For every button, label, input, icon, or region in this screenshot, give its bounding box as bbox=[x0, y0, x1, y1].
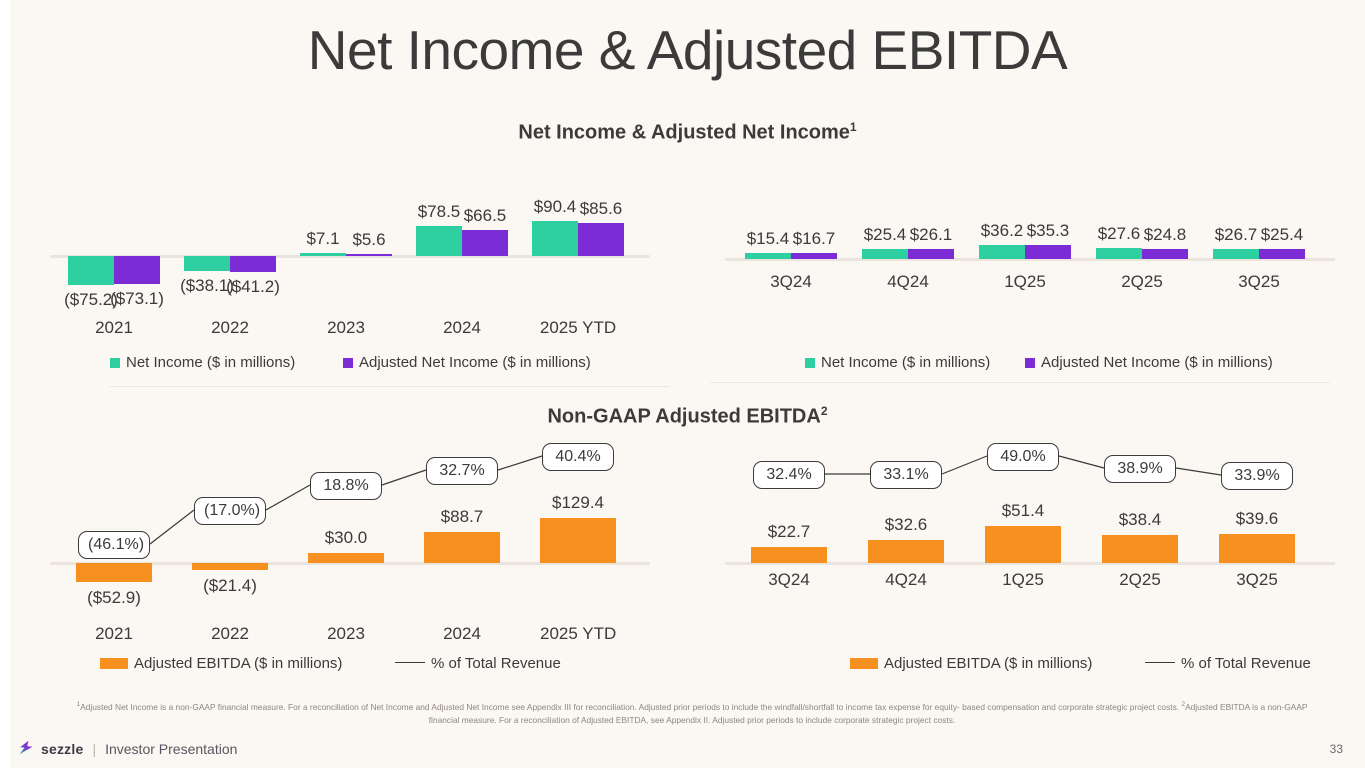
legend-item-adjusted-ebitda: Adjusted EBITDA ($ in millions) bbox=[100, 655, 342, 672]
percent-callout: 40.4% bbox=[542, 443, 614, 471]
bar-net-income bbox=[862, 249, 908, 259]
bar-adjusted-ebitda bbox=[1102, 535, 1178, 563]
bottom-bar: sezzle | Investor Presentation 33 bbox=[10, 734, 1365, 768]
category-label: 3Q25 bbox=[1213, 272, 1305, 292]
bar-net-income bbox=[416, 226, 462, 256]
bar-adjusted-net-income bbox=[791, 253, 837, 259]
legend-item-adjusted-net-income: Adjusted Net Income ($ in millions) bbox=[1025, 354, 1273, 371]
legend-label-net-income: Net Income ($ in millions) bbox=[126, 354, 295, 371]
bar-adjusted-ebitda bbox=[308, 553, 384, 564]
legend-swatch-percent-revenue bbox=[1145, 662, 1175, 663]
value-label-adjusted-net-income: ($73.1) bbox=[108, 289, 166, 309]
legend-label-adjusted-net-income: Adjusted Net Income ($ in millions) bbox=[359, 354, 591, 371]
value-label-adjusted-net-income: $26.1 bbox=[902, 225, 960, 245]
bar-net-income bbox=[745, 253, 791, 259]
brand-tagline: Investor Presentation bbox=[105, 741, 237, 757]
category-label: 2023 bbox=[308, 624, 384, 644]
legend-swatch-adjusted-net-income bbox=[1025, 358, 1035, 368]
legend-label-percent-revenue: % of Total Revenue bbox=[431, 655, 561, 672]
legend-label-adjusted-ebitda: Adjusted EBITDA ($ in millions) bbox=[884, 655, 1092, 672]
value-label-adjusted-net-income: $66.5 bbox=[456, 206, 514, 226]
value-label-adjusted-ebitda: $32.6 bbox=[854, 515, 958, 535]
value-label-adjusted-net-income: $24.8 bbox=[1136, 225, 1194, 245]
percent-callout: 18.8% bbox=[310, 472, 382, 500]
category-label: 2024 bbox=[424, 624, 500, 644]
legend-swatch-adjusted-ebitda bbox=[100, 658, 128, 669]
percent-callout: 32.4% bbox=[753, 461, 825, 489]
percent-callout: 33.1% bbox=[870, 461, 942, 489]
category-label: 2023 bbox=[300, 318, 392, 338]
bar-adjusted-ebitda bbox=[424, 532, 500, 563]
category-label: 4Q24 bbox=[862, 272, 954, 292]
section-heading-ebitda-text: Non-GAAP Adjusted EBITDA bbox=[547, 406, 820, 428]
bar-adjusted-net-income bbox=[1142, 249, 1188, 259]
bar-net-income bbox=[979, 245, 1025, 259]
value-label-adjusted-ebitda: $129.4 bbox=[526, 493, 630, 513]
page-number: 33 bbox=[1330, 742, 1343, 756]
bar-adjusted-net-income bbox=[230, 256, 276, 272]
category-label: 1Q25 bbox=[985, 570, 1061, 590]
bar-adjusted-net-income bbox=[462, 230, 508, 256]
legend-label-adjusted-ebitda: Adjusted EBITDA ($ in millions) bbox=[134, 655, 342, 672]
value-label-adjusted-net-income: ($41.2) bbox=[224, 277, 282, 297]
section-divider-right bbox=[710, 382, 1330, 383]
value-label-adjusted-ebitda: ($21.4) bbox=[178, 576, 282, 596]
chart-ebitda-annual: ($52.9)2021($21.4)2022$30.02023$88.72024… bbox=[50, 440, 650, 680]
percent-callout: (17.0%) bbox=[194, 497, 266, 525]
category-label: 2021 bbox=[68, 318, 160, 338]
percent-callout: 38.9% bbox=[1104, 455, 1176, 483]
value-label-adjusted-ebitda: $38.4 bbox=[1088, 510, 1192, 530]
value-label-adjusted-ebitda: $22.7 bbox=[737, 522, 841, 542]
legend-item-percent-revenue: % of Total Revenue bbox=[395, 655, 561, 672]
sezzle-swoosh-icon bbox=[18, 740, 35, 758]
bar-adjusted-ebitda bbox=[1219, 534, 1295, 563]
bar-adjusted-net-income bbox=[578, 223, 624, 256]
legend-swatch-adjusted-ebitda bbox=[850, 658, 878, 669]
value-label-adjusted-net-income: $85.6 bbox=[572, 199, 630, 219]
legend-item-percent-revenue: % of Total Revenue bbox=[1145, 655, 1311, 672]
footnote-line-1: Adjusted Net Income is a non-GAAP financ… bbox=[80, 702, 960, 712]
category-label: 1Q25 bbox=[979, 272, 1071, 292]
percent-callout: 33.9% bbox=[1221, 462, 1293, 490]
bar-adjusted-net-income bbox=[1025, 245, 1071, 259]
legend-item-net-income: Net Income ($ in millions) bbox=[805, 354, 990, 371]
category-label: 3Q25 bbox=[1219, 570, 1295, 590]
category-label: 2024 bbox=[416, 318, 508, 338]
bar-adjusted-ebitda bbox=[985, 526, 1061, 563]
bar-adjusted-net-income bbox=[346, 254, 392, 257]
page-title: Net Income & Adjusted EBITDA bbox=[10, 18, 1365, 82]
brand-name: sezzle bbox=[41, 741, 83, 757]
legend-swatch-percent-revenue bbox=[395, 662, 425, 663]
value-label-adjusted-net-income: $35.3 bbox=[1019, 221, 1077, 241]
chart-net-income-annual: ($75.2)($73.1)2021($38.1)($41.2)2022$7.1… bbox=[50, 182, 650, 382]
value-label-adjusted-net-income: $5.6 bbox=[340, 230, 398, 250]
category-label: 3Q24 bbox=[751, 570, 827, 590]
category-label: 2025 YTD bbox=[540, 624, 616, 644]
value-label-adjusted-ebitda: $39.6 bbox=[1205, 509, 1309, 529]
category-label: 3Q24 bbox=[745, 272, 837, 292]
bar-adjusted-net-income bbox=[114, 256, 160, 284]
category-label: 2022 bbox=[192, 624, 268, 644]
legend-swatch-net-income bbox=[110, 358, 120, 368]
category-label: 2022 bbox=[184, 318, 276, 338]
value-label-adjusted-ebitda: $30.0 bbox=[294, 528, 398, 548]
footnote-line-2: based compensation and corporate strateg… bbox=[962, 702, 1179, 712]
percent-callout: 49.0% bbox=[987, 443, 1059, 471]
category-label: 2021 bbox=[76, 624, 152, 644]
section-divider-left bbox=[110, 386, 670, 387]
footnote: 1Adjusted Net Income is a non-GAAP finan… bbox=[76, 700, 1308, 727]
section-heading-net-income-footnote-marker: 1 bbox=[850, 120, 857, 134]
legend-label-net-income: Net Income ($ in millions) bbox=[821, 354, 990, 371]
legend-swatch-net-income bbox=[805, 358, 815, 368]
category-label: 2025 YTD bbox=[532, 318, 624, 338]
bar-net-income bbox=[300, 253, 346, 256]
bar-net-income bbox=[1213, 249, 1259, 259]
bar-net-income bbox=[532, 221, 578, 256]
section-heading-ebitda-footnote-marker: 2 bbox=[821, 404, 828, 418]
percent-callout: (46.1%) bbox=[78, 531, 150, 559]
legend-item-adjusted-net-income: Adjusted Net Income ($ in millions) bbox=[343, 354, 591, 371]
brand: sezzle | Investor Presentation bbox=[18, 740, 237, 758]
brand-separator: | bbox=[92, 741, 96, 757]
bar-net-income bbox=[1096, 248, 1142, 259]
percent-callout: 32.7% bbox=[426, 457, 498, 485]
bar-adjusted-ebitda bbox=[540, 518, 616, 563]
section-heading-net-income: Net Income & Adjusted Net Income1 bbox=[10, 120, 1365, 145]
category-label: 2Q25 bbox=[1096, 272, 1188, 292]
section-heading-ebitda: Non-GAAP Adjusted EBITDA2 bbox=[10, 404, 1365, 429]
legend-label-percent-revenue: % of Total Revenue bbox=[1181, 655, 1311, 672]
legend-label-adjusted-net-income: Adjusted Net Income ($ in millions) bbox=[1041, 354, 1273, 371]
chart-ebitda-quarterly: $22.73Q24$32.64Q24$51.41Q25$38.42Q25$39.… bbox=[725, 440, 1335, 680]
bar-adjusted-net-income bbox=[1259, 249, 1305, 259]
legend-item-net-income: Net Income ($ in millions) bbox=[110, 354, 295, 371]
section-heading-net-income-text: Net Income & Adjusted Net Income bbox=[518, 122, 850, 144]
bar-adjusted-ebitda bbox=[192, 563, 268, 570]
bar-adjusted-ebitda bbox=[76, 563, 152, 582]
value-label-adjusted-ebitda: ($52.9) bbox=[62, 588, 166, 608]
legend-swatch-adjusted-net-income bbox=[343, 358, 353, 368]
bar-adjusted-net-income bbox=[908, 249, 954, 259]
category-label: 2Q25 bbox=[1102, 570, 1178, 590]
value-label-adjusted-net-income: $25.4 bbox=[1253, 225, 1311, 245]
legend-item-adjusted-ebitda: Adjusted EBITDA ($ in millions) bbox=[850, 655, 1092, 672]
slide: Net Income & Adjusted EBITDA Net Income … bbox=[10, 0, 1365, 768]
value-label-adjusted-ebitda: $51.4 bbox=[971, 501, 1075, 521]
bar-adjusted-ebitda bbox=[868, 540, 944, 563]
value-label-adjusted-ebitda: $88.7 bbox=[410, 507, 514, 527]
bar-net-income bbox=[68, 256, 114, 285]
chart-net-income-quarterly: $15.4$16.73Q24$25.4$26.14Q24$36.2$35.31Q… bbox=[725, 196, 1335, 382]
value-label-adjusted-net-income: $16.7 bbox=[785, 229, 843, 249]
category-label: 4Q24 bbox=[868, 570, 944, 590]
bar-net-income bbox=[184, 256, 230, 271]
bar-adjusted-ebitda bbox=[751, 547, 827, 563]
